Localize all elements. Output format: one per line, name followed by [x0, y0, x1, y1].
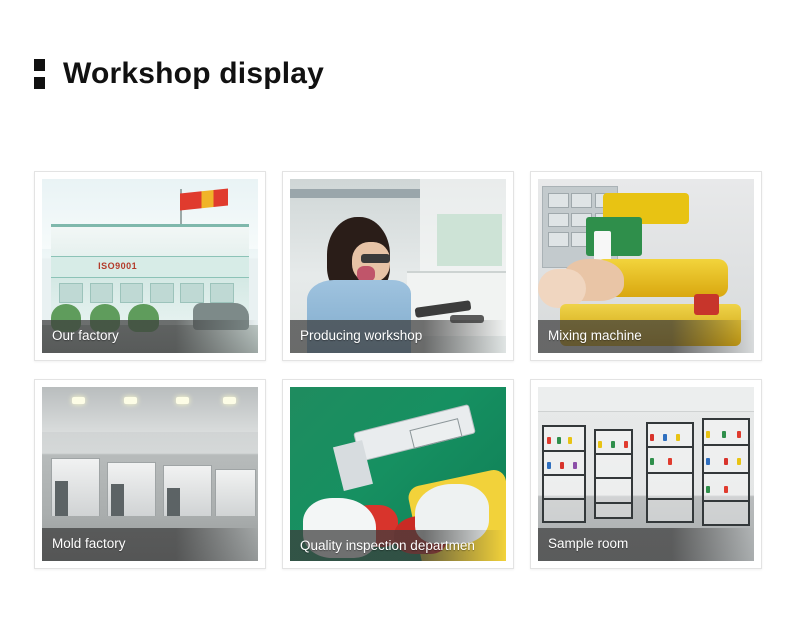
- card-image-producing-workshop: Producing workshop: [290, 179, 506, 353]
- card-caption: Producing workshop: [290, 320, 506, 353]
- card-image-quality-inspection: Quality inspection departmen: [290, 387, 506, 561]
- card-image-our-factory: ISO9001 Our factory: [42, 179, 258, 353]
- card-producing-workshop[interactable]: Producing workshop: [282, 171, 514, 361]
- card-mold-factory[interactable]: Mold factory: [34, 379, 266, 569]
- heading-mark-icon: [34, 59, 45, 89]
- card-image-sample-room: Sample room: [538, 387, 754, 561]
- card-sample-room[interactable]: Sample room: [530, 379, 762, 569]
- card-caption: Our factory: [42, 320, 258, 353]
- section-heading: Workshop display: [34, 57, 324, 91]
- card-caption: Mold factory: [42, 528, 258, 561]
- card-caption: Quality inspection departmen: [290, 530, 506, 561]
- card-image-mold-factory: Mold factory: [42, 387, 258, 561]
- page-title: Workshop display: [63, 57, 324, 91]
- workshop-display-page: Workshop display ISO9001: [0, 0, 800, 629]
- card-image-mixing-machine: Mixing machine: [538, 179, 754, 353]
- card-caption: Mixing machine: [538, 320, 754, 353]
- card-caption: Sample room: [538, 528, 754, 561]
- card-our-factory[interactable]: ISO9001 Our factory: [34, 171, 266, 361]
- card-quality-inspection[interactable]: Quality inspection departmen: [282, 379, 514, 569]
- card-mixing-machine[interactable]: Mixing machine: [530, 171, 762, 361]
- workshop-card-grid: ISO9001 Our factory: [34, 171, 772, 569]
- factory-sign-text: ISO9001: [98, 257, 249, 274]
